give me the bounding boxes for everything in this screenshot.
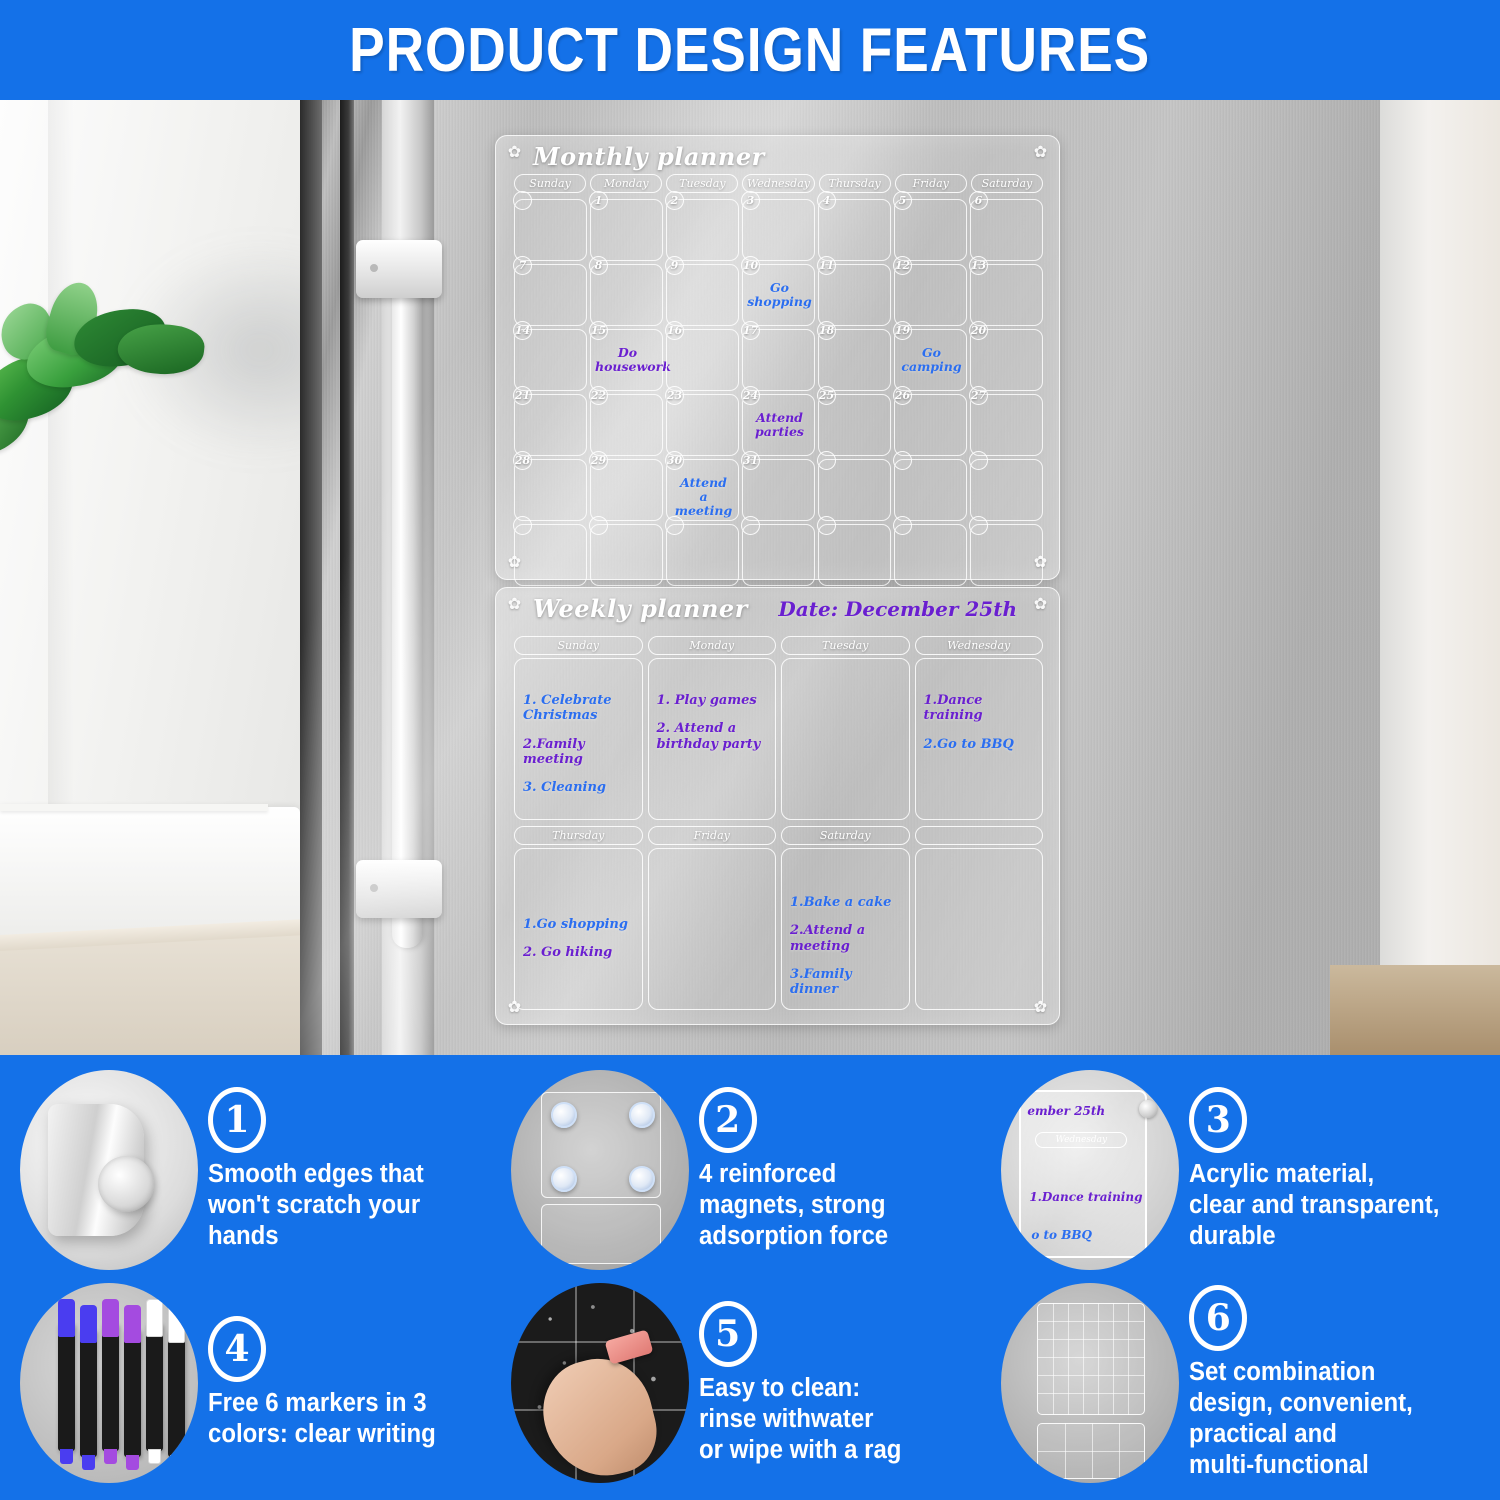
thumb-task-line: 1.Dance training bbox=[1029, 1190, 1142, 1204]
calendar-day-cell[interactable]: 5 bbox=[894, 199, 967, 261]
monthly-day-header: Friday bbox=[895, 174, 967, 193]
floor bbox=[0, 935, 330, 1055]
acrylic-closeup-photo: ember 25thWednesday1.Dance trainingo to … bbox=[1001, 1070, 1179, 1270]
day-number: 24 bbox=[741, 386, 760, 405]
marker-tip bbox=[104, 1449, 117, 1464]
day-number: 27 bbox=[969, 386, 988, 405]
calendar-day-cell[interactable]: 3 bbox=[742, 199, 815, 261]
day-number: 29 bbox=[589, 451, 608, 470]
calendar-day-cell[interactable]: 9 bbox=[666, 264, 739, 326]
weekly-task-line: 2.Attend a meeting bbox=[790, 923, 901, 954]
calendar-day-cell[interactable]: 7 bbox=[514, 264, 587, 326]
marker-cap bbox=[102, 1299, 119, 1337]
calendar-note: Attend a meeting bbox=[671, 476, 736, 518]
grid-line bbox=[1083, 1303, 1084, 1415]
feature-text-block: 6Set combination design, convenient, pra… bbox=[1189, 1285, 1427, 1481]
thumb-day-pill: Wednesday bbox=[1035, 1132, 1127, 1148]
calendar-day-cell[interactable]: 26 bbox=[894, 394, 967, 456]
calendar-day-cell[interactable]: 20 bbox=[970, 329, 1043, 391]
monthly-day-header: Saturday bbox=[971, 174, 1043, 193]
header-banner: PRODUCT DESIGN FEATURES bbox=[0, 0, 1500, 100]
monthly-day-header: Wednesday bbox=[742, 174, 814, 193]
calendar-day-cell[interactable] bbox=[514, 524, 587, 586]
magnets-photo bbox=[511, 1070, 689, 1270]
grid-line bbox=[511, 1341, 689, 1343]
marker-cap bbox=[168, 1305, 185, 1343]
marker-cap bbox=[124, 1305, 141, 1343]
calendar-day-cell[interactable] bbox=[742, 524, 815, 586]
day-number: 4 bbox=[817, 191, 836, 210]
marker-cap bbox=[146, 1299, 163, 1337]
calendar-day-cell[interactable]: 19Go camping bbox=[894, 329, 967, 391]
feature-number-badge: 2 bbox=[699, 1087, 757, 1153]
marker-tip bbox=[82, 1455, 95, 1470]
monthly-day-header: Tuesday bbox=[666, 174, 738, 193]
grid-line bbox=[1038, 1451, 1144, 1452]
feature-text-block: 4Free 6 markers in 3 colors: clear writi… bbox=[208, 1316, 450, 1450]
calendar-day-cell[interactable] bbox=[894, 459, 967, 521]
calendar-day-cell[interactable]: 27 bbox=[970, 394, 1043, 456]
houseplant bbox=[0, 280, 192, 470]
day-number: 6 bbox=[969, 191, 988, 210]
calendar-day-cell[interactable]: 2 bbox=[666, 199, 739, 261]
calendar-day-cell[interactable]: 29 bbox=[590, 459, 663, 521]
magnet-dot bbox=[629, 1166, 655, 1192]
calendar-day-cell[interactable]: 18 bbox=[818, 329, 891, 391]
marker-pen bbox=[146, 1323, 163, 1451]
weekly-task-line: 2. Attend a birthday party bbox=[657, 721, 768, 752]
day-number bbox=[665, 516, 684, 535]
day-number: 5 bbox=[893, 191, 912, 210]
weekly-task-line: 2. Go hiking bbox=[523, 945, 634, 960]
monthly-planner-title: Monthly planner bbox=[533, 142, 765, 171]
day-number: 22 bbox=[589, 386, 608, 405]
thumb-date-text: ember 25th bbox=[1027, 1104, 1105, 1118]
right-wall bbox=[1380, 100, 1500, 1055]
day-number: 3 bbox=[741, 191, 760, 210]
calendar-day-cell[interactable]: 31 bbox=[742, 459, 815, 521]
marker-pen bbox=[168, 1329, 185, 1457]
weekly-planner-title: Weekly planner bbox=[533, 594, 748, 623]
feature-item-4: 4Free 6 markers in 3 colors: clear writi… bbox=[14, 1277, 505, 1491]
calendar-day-cell[interactable] bbox=[666, 524, 739, 586]
day-number: 11 bbox=[817, 256, 836, 275]
feature-number-badge: 3 bbox=[1189, 1087, 1247, 1153]
day-number: 10 bbox=[741, 256, 760, 275]
feature-text-block: 3Acrylic material, clear and transparent… bbox=[1189, 1087, 1455, 1252]
day-number: 15 bbox=[589, 321, 608, 340]
calendar-day-cell[interactable] bbox=[818, 459, 891, 521]
day-number: 12 bbox=[893, 256, 912, 275]
smooth-edge-photo bbox=[20, 1070, 198, 1270]
monthly-calendar-grid: 12345678910Go shopping1112131415Do house… bbox=[514, 199, 1043, 586]
grid-line bbox=[1128, 1303, 1129, 1415]
marker-tip bbox=[148, 1449, 161, 1464]
mini-weekly-board bbox=[541, 1204, 661, 1264]
day-number: 7 bbox=[513, 256, 532, 275]
weekly-task-line: 2.Go to BBQ bbox=[924, 737, 1035, 752]
feature-number-badge: 5 bbox=[699, 1301, 757, 1367]
day-number: 9 bbox=[665, 256, 684, 275]
day-number bbox=[741, 516, 760, 535]
page-title: PRODUCT DESIGN FEATURES bbox=[350, 15, 1151, 86]
calendar-day-cell[interactable]: 11 bbox=[818, 264, 891, 326]
day-number: 30 bbox=[665, 451, 684, 470]
weekly-day-header: Saturday bbox=[781, 826, 910, 845]
feature-number-badge: 1 bbox=[208, 1087, 266, 1153]
day-number: 23 bbox=[665, 386, 684, 405]
day-number: 28 bbox=[513, 451, 532, 470]
calendar-day-cell[interactable] bbox=[970, 524, 1043, 586]
calendar-day-cell[interactable]: 12 bbox=[894, 264, 967, 326]
magnet-dot bbox=[629, 1102, 655, 1128]
calendar-day-cell[interactable]: 24Attend parties bbox=[742, 394, 815, 456]
day-number: 13 bbox=[969, 256, 988, 275]
magnet-icon: ✿ bbox=[507, 597, 522, 612]
magnet-dot bbox=[551, 1166, 577, 1192]
weekly-day-header bbox=[915, 826, 1044, 845]
calendar-day-cell[interactable]: 1 bbox=[590, 199, 663, 261]
weekly-day-header: Wednesday bbox=[915, 636, 1044, 655]
day-number: 31 bbox=[741, 451, 760, 470]
feature-item-6: 6Set combination design, convenient, pra… bbox=[995, 1277, 1486, 1491]
grid-line bbox=[1068, 1303, 1069, 1415]
weekly-day-header: Friday bbox=[648, 826, 777, 845]
magnet-icon: ✿ bbox=[1033, 597, 1048, 612]
weekly-day-header: Sunday bbox=[514, 636, 643, 655]
weekly-task-line: 1.Bake a cake bbox=[790, 895, 901, 910]
feature-item-2: 24 reinforced magnets, strong adsorption… bbox=[505, 1063, 996, 1277]
marker-cap bbox=[58, 1299, 75, 1337]
calendar-day-cell[interactable]: 30Attend a meeting bbox=[666, 459, 739, 521]
weekly-day-header: Monday bbox=[648, 636, 777, 655]
feature-description: Acrylic material, clear and transparent,… bbox=[1189, 1159, 1439, 1252]
day-number: 8 bbox=[589, 256, 608, 275]
calendar-day-cell[interactable]: 15Do housework bbox=[590, 329, 663, 391]
right-floor bbox=[1330, 965, 1500, 1055]
weekly-day-header: Tuesday bbox=[781, 636, 910, 655]
marker-cap bbox=[80, 1305, 97, 1343]
calendar-day-cell[interactable]: 22 bbox=[590, 394, 663, 456]
magnet-knob bbox=[98, 1156, 154, 1212]
day-number bbox=[589, 516, 608, 535]
feature-description: Easy to clean: rinse withwater or wipe w… bbox=[699, 1373, 901, 1466]
marker-pen bbox=[124, 1329, 141, 1457]
day-number: 21 bbox=[513, 386, 532, 405]
feature-description: 4 reinforced magnets, strong adsorption … bbox=[699, 1159, 888, 1252]
product-photo: ✿ ✿ ✿ ✿ Monthly planner SundayMondayTues… bbox=[0, 100, 1500, 1055]
weekly-day-cell[interactable]: 1.Bake a cake2.Attend a meeting3.Family … bbox=[781, 848, 910, 1010]
feature-text-block: 5Easy to clean: rinse withwater or wipe … bbox=[699, 1301, 914, 1466]
feature-description: Set combination design, convenient, prac… bbox=[1189, 1357, 1413, 1481]
calendar-day-cell[interactable]: 23 bbox=[666, 394, 739, 456]
cleaning-photo bbox=[511, 1283, 689, 1483]
day-number bbox=[513, 191, 532, 210]
thumb-task-line: o to BBQ bbox=[1031, 1228, 1092, 1242]
weekly-task-line: 1.Go shopping bbox=[523, 917, 634, 932]
calendar-note: Go camping bbox=[899, 346, 964, 374]
feature-description: Free 6 markers in 3 colors: clear writin… bbox=[208, 1388, 436, 1450]
calendar-day-cell[interactable]: 17 bbox=[742, 329, 815, 391]
weekly-task-line: 2.Family meeting bbox=[523, 737, 634, 768]
monthly-day-header-row: SundayMondayTuesdayWednesdayThursdayFrid… bbox=[514, 174, 1043, 193]
monthly-day-header: Sunday bbox=[514, 174, 586, 193]
weekly-body-row: 1. Celebrate Christmas2.Family meeting3.… bbox=[514, 658, 1043, 820]
weekly-task-line: 3.Family dinner bbox=[790, 967, 901, 998]
weekly-task-line: 1.Dance training bbox=[924, 693, 1035, 724]
monthly-day-header: Monday bbox=[590, 174, 662, 193]
magnet-icon: ✿ bbox=[507, 145, 522, 160]
magnet-screw bbox=[1139, 1100, 1157, 1118]
markers-photo bbox=[20, 1283, 198, 1483]
calendar-day-cell[interactable]: 28 bbox=[514, 459, 587, 521]
marker-tip bbox=[60, 1449, 73, 1464]
weekly-header-row: SundayMondayTuesdayWednesday bbox=[514, 636, 1043, 655]
weekly-header-row: ThursdayFridaySaturday bbox=[514, 826, 1043, 845]
board-set-photo bbox=[1001, 1283, 1179, 1483]
day-number bbox=[969, 451, 988, 470]
cabinet-edge bbox=[0, 804, 268, 811]
weekly-planner-date: Date: December 25th bbox=[778, 597, 1017, 621]
calendar-note: Do housework bbox=[595, 346, 660, 374]
day-number: 26 bbox=[893, 386, 912, 405]
weekly-day-header: Thursday bbox=[514, 826, 643, 845]
calendar-day-cell[interactable] bbox=[590, 524, 663, 586]
calendar-day-cell[interactable]: 10Go shopping bbox=[742, 264, 815, 326]
day-number: 16 bbox=[665, 321, 684, 340]
day-number: 1 bbox=[589, 191, 608, 210]
calendar-day-cell[interactable]: 8 bbox=[590, 264, 663, 326]
weekly-day-cell[interactable] bbox=[648, 848, 777, 1010]
calendar-day-cell[interactable]: 4 bbox=[818, 199, 891, 261]
day-number: 25 bbox=[817, 386, 836, 405]
day-number: 20 bbox=[969, 321, 988, 340]
weekly-day-cell[interactable] bbox=[915, 848, 1044, 1010]
weekly-task-line: 1. Play games bbox=[657, 693, 768, 708]
marker-pen bbox=[80, 1329, 97, 1457]
feature-text-block: 1Smooth edges that won't scratch your ha… bbox=[208, 1087, 499, 1252]
marker-tip bbox=[170, 1455, 183, 1470]
grid-line bbox=[1113, 1303, 1114, 1415]
calendar-day-cell[interactable]: 14 bbox=[514, 329, 587, 391]
calendar-day-cell[interactable]: 6 bbox=[970, 199, 1043, 261]
calendar-day-cell[interactable]: 21 bbox=[514, 394, 587, 456]
day-number bbox=[969, 516, 988, 535]
grid-line bbox=[1098, 1303, 1099, 1415]
feature-item-5: 5Easy to clean: rinse withwater or wipe … bbox=[505, 1277, 996, 1491]
day-number: 2 bbox=[665, 191, 684, 210]
weekly-day-cell[interactable] bbox=[781, 658, 910, 820]
magnet-icon: ✿ bbox=[1033, 145, 1048, 160]
day-number bbox=[893, 516, 912, 535]
calendar-day-cell[interactable]: 25 bbox=[818, 394, 891, 456]
calendar-note: Attend parties bbox=[747, 411, 812, 439]
weekly-task-line: 3. Cleaning bbox=[523, 780, 634, 795]
weekly-planner-board[interactable]: ✿ ✿ ✿ ✿ Weekly planner Date: December 25… bbox=[495, 587, 1060, 1025]
day-number: 19 bbox=[893, 321, 912, 340]
weekly-day-cell[interactable]: 1.Go shopping2. Go hiking bbox=[514, 848, 643, 1010]
calendar-day-cell[interactable] bbox=[970, 459, 1043, 521]
feature-item-1: 1Smooth edges that won't scratch your ha… bbox=[14, 1063, 505, 1277]
weekly-body-row: 1.Go shopping2. Go hiking1.Bake a cake2.… bbox=[514, 848, 1043, 1010]
marker-pen bbox=[102, 1323, 119, 1451]
monthly-planner-board[interactable]: ✿ ✿ ✿ ✿ Monthly planner SundayMondayTues… bbox=[495, 135, 1060, 580]
feature-text-block: 24 reinforced magnets, strong adsorption… bbox=[699, 1087, 900, 1252]
marker-pen bbox=[58, 1323, 75, 1451]
feature-number-badge: 4 bbox=[208, 1316, 266, 1382]
day-number bbox=[893, 451, 912, 470]
calendar-note: Go shopping bbox=[747, 281, 812, 309]
weekly-day-cell[interactable]: 1. Celebrate Christmas2.Family meeting3.… bbox=[514, 658, 643, 820]
monthly-day-header: Thursday bbox=[819, 174, 891, 193]
calendar-day-cell[interactable] bbox=[894, 524, 967, 586]
day-number: 14 bbox=[513, 321, 532, 340]
feature-description: Smooth edges that won't scratch your han… bbox=[208, 1159, 481, 1252]
weekly-task-line: 1. Celebrate Christmas bbox=[523, 693, 634, 724]
day-number bbox=[817, 516, 836, 535]
weekly-day-cell[interactable]: 1. Play games2. Attend a birthday party bbox=[648, 658, 777, 820]
calendar-day-cell[interactable]: 13 bbox=[970, 264, 1043, 326]
feature-number-badge: 6 bbox=[1189, 1285, 1247, 1351]
marker-tip bbox=[126, 1455, 139, 1470]
feature-item-3: ember 25thWednesday1.Dance trainingo to … bbox=[995, 1063, 1486, 1277]
calendar-day-cell[interactable] bbox=[818, 524, 891, 586]
magnet-dot bbox=[551, 1102, 577, 1128]
calendar-day-cell[interactable] bbox=[514, 199, 587, 261]
day-number bbox=[513, 516, 532, 535]
white-cabinet bbox=[0, 807, 300, 937]
weekly-day-cell[interactable]: 1.Dance training2.Go to BBQ bbox=[915, 658, 1044, 820]
day-number: 17 bbox=[741, 321, 760, 340]
grid-line bbox=[1053, 1303, 1054, 1415]
weekly-grid: SundayMondayTuesdayWednesday1. Celebrate… bbox=[514, 636, 1043, 1010]
calendar-day-cell[interactable]: 16 bbox=[666, 329, 739, 391]
day-number: 18 bbox=[817, 321, 836, 340]
feature-list: 1Smooth edges that won't scratch your ha… bbox=[0, 1055, 1500, 1500]
day-number bbox=[817, 451, 836, 470]
